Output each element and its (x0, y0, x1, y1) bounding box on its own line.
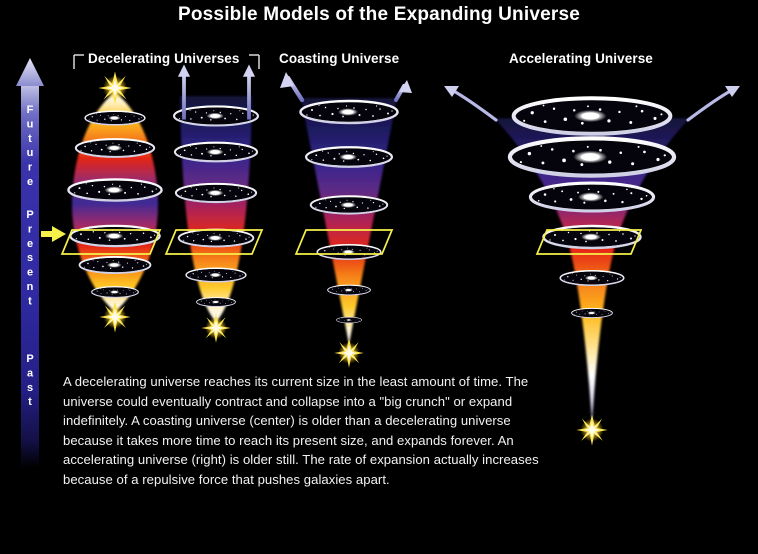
bracket-label-decelerating: Decelerating Universes (88, 51, 240, 66)
header-coasting-universe: Coasting Universe (279, 51, 399, 66)
caption-text: A decelerating universe reaches its curr… (63, 372, 541, 490)
diagram-canvas: Possible Models of the Expanding Univers… (0, 0, 758, 554)
axis-label-future: Future (24, 104, 36, 190)
axis-label-past: Past (24, 353, 36, 411)
header-accelerating-universe: Accelerating Universe (509, 51, 653, 66)
page-title: Possible Models of the Expanding Univers… (0, 4, 758, 26)
axis-label-present: Present (24, 209, 36, 310)
